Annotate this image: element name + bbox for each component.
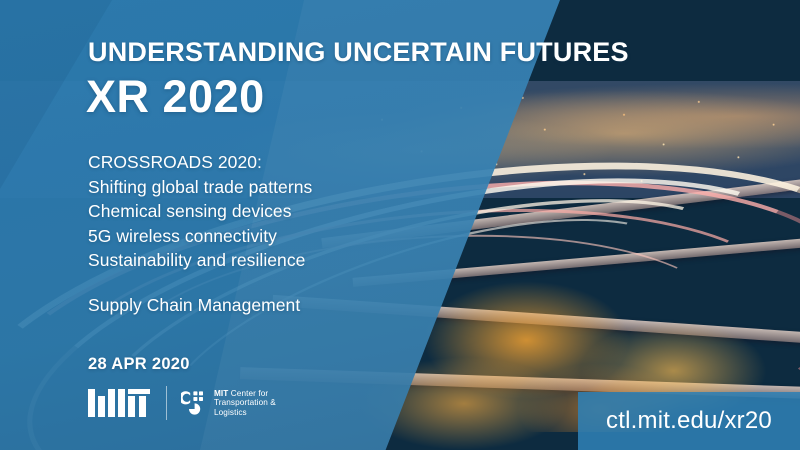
url-band[interactable]: ctl.mit.edu/xr20	[578, 392, 800, 450]
lockup-divider	[166, 386, 167, 420]
ctl-line-3: Logistics	[214, 408, 276, 418]
event-date: 28 APR 2020	[88, 355, 190, 374]
website-url[interactable]: ctl.mit.edu/xr20	[606, 407, 772, 435]
crossroads-heading: CROSSROADS 2020:	[88, 150, 312, 175]
ctl-mit-bold: MIT	[214, 389, 228, 398]
crossroads-list: CROSSROADS 2020: Shifting global trade p…	[88, 150, 312, 273]
page-title: XR 2020	[86, 73, 265, 120]
list-item: Shifting global trade patterns	[88, 175, 312, 200]
ctl-circle-mark-icon	[181, 390, 207, 416]
event-banner: UNDERSTANDING UNCERTAIN FUTURES XR 2020 …	[0, 0, 800, 450]
ctl-line-1: MIT Center for	[214, 389, 276, 399]
list-item: Sustainability and resilience	[88, 248, 312, 273]
topic-label: Supply Chain Management	[88, 295, 300, 316]
ctl-wordmark: MIT Center for Transportation & Logistic…	[214, 389, 276, 418]
ctl-center-for: Center for	[228, 389, 268, 398]
ctl-logo-group: MIT Center for Transportation & Logistic…	[181, 389, 276, 418]
ctl-line-2: Transportation &	[214, 398, 276, 408]
banner-content: UNDERSTANDING UNCERTAIN FUTURES XR 2020 …	[88, 0, 558, 450]
list-item: 5G wireless connectivity	[88, 224, 312, 249]
logo-lockup: MIT Center for Transportation & Logistic…	[88, 385, 276, 421]
list-item: Chemical sensing devices	[88, 199, 312, 224]
mit-logo	[88, 389, 150, 417]
banner-kicker: UNDERSTANDING UNCERTAIN FUTURES	[88, 38, 629, 66]
